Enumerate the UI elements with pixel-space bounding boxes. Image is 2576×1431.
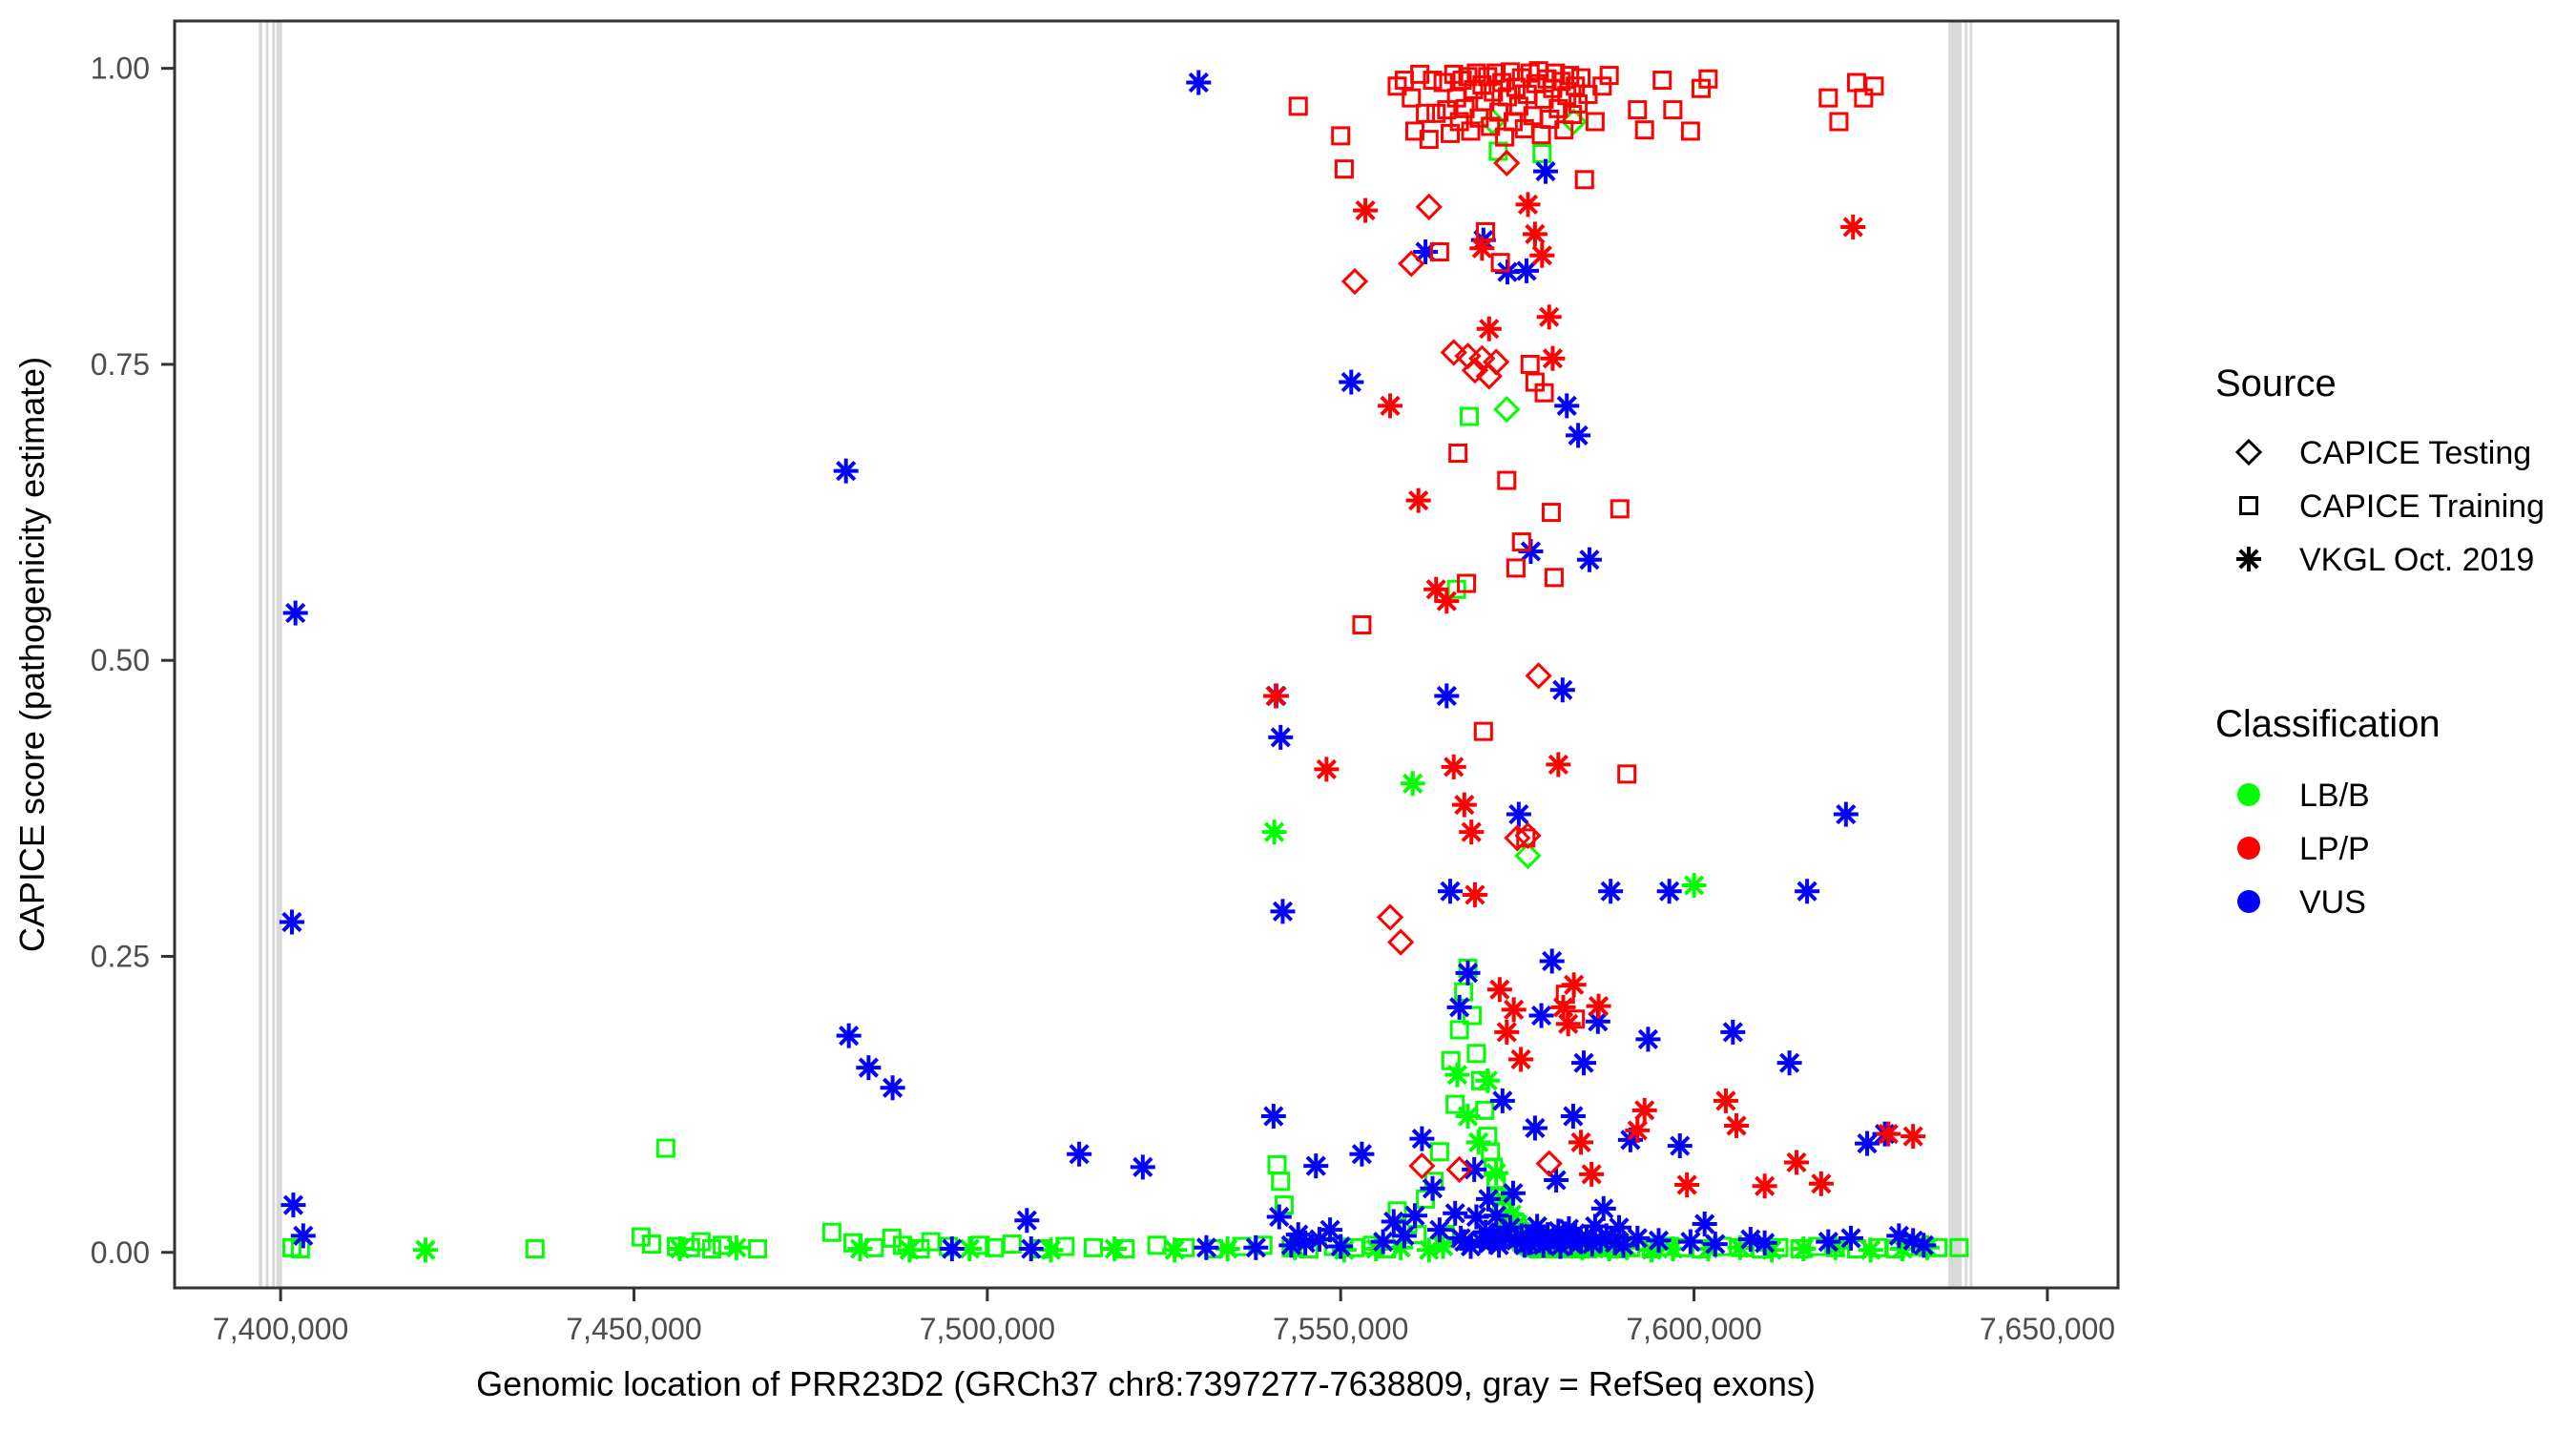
scatter-point-asterisk — [1668, 1133, 1693, 1158]
y-tick-label: 1.00 — [91, 52, 150, 86]
scatter-point-asterisk — [1607, 1215, 1631, 1240]
scatter-point-asterisk — [1314, 757, 1339, 781]
scatter-point-asterisk — [1901, 1124, 1925, 1149]
scatter-point-asterisk — [283, 601, 308, 626]
scatter-point-asterisk — [1839, 1226, 1863, 1251]
scatter-point-asterisk — [1194, 1235, 1218, 1260]
scatter-point-asterisk — [1577, 548, 1602, 572]
x-tick-label: 7,650,000 — [1980, 1312, 2115, 1346]
scatter-point-asterisk — [1402, 1203, 1427, 1228]
scatter-point-asterisk — [1463, 882, 1487, 907]
scatter-point-asterisk — [1270, 899, 1295, 923]
scatter-point-asterisk — [1703, 1232, 1728, 1256]
scatter-point-asterisk — [1540, 346, 1565, 371]
scatter-point-asterisk — [1019, 1236, 1044, 1261]
scatter-point-asterisk — [1579, 1162, 1604, 1187]
exon-band — [277, 21, 282, 1288]
scatter-point-asterisk — [1632, 1098, 1657, 1123]
scatter-point-asterisk — [413, 1237, 438, 1262]
scatter-point-asterisk — [1571, 1050, 1596, 1075]
y-tick-label: 0.25 — [91, 939, 150, 973]
x-tick-label: 7,600,000 — [1626, 1312, 1761, 1346]
scatter-point-asterisk — [1724, 1113, 1749, 1138]
scatter-point-asterisk — [1809, 1172, 1834, 1196]
scatter-point-asterisk — [1561, 1104, 1586, 1129]
scatter-point-asterisk — [1328, 1234, 1353, 1259]
scatter-point-asterisk — [1447, 995, 1472, 1020]
x-tick-label: 7,400,000 — [213, 1312, 348, 1346]
scatter-point-asterisk — [1392, 1223, 1417, 1248]
scatter-point-asterisk — [837, 1024, 862, 1048]
scatter-point-asterisk — [1444, 1063, 1469, 1088]
y-tick-label: 0.00 — [91, 1235, 150, 1270]
scatter-point-asterisk — [280, 909, 304, 934]
exon-band — [1969, 21, 1972, 1288]
scatter-point-asterisk — [1508, 1047, 1533, 1071]
scatter-point-asterisk — [1816, 1230, 1840, 1255]
scatter-point-asterisk — [1378, 393, 1402, 418]
scatter-point-asterisk — [1371, 1230, 1396, 1255]
scatter-point-asterisk — [1420, 1176, 1444, 1201]
scatter-point-asterisk — [1720, 1020, 1745, 1045]
legend-color-dot — [2237, 890, 2260, 913]
scatter-point-asterisk — [1587, 994, 1611, 1019]
legend-item-label: CAPICE Training — [2299, 488, 2545, 525]
scatter-point-asterisk — [1566, 423, 1590, 447]
x-tick-label: 7,500,000 — [920, 1312, 1055, 1346]
scatter-point-asterisk — [1494, 1020, 1519, 1045]
scatter-point-asterisk — [1540, 948, 1565, 973]
x-tick-label: 7,450,000 — [566, 1312, 701, 1346]
scatter-point-asterisk — [1795, 879, 1819, 903]
scatter-point-asterisk — [1682, 873, 1707, 898]
scatter-point-asterisk — [1243, 1235, 1268, 1260]
legend-source-title: Source — [2215, 363, 2337, 404]
scatter-point-asterisk — [1442, 755, 1466, 779]
legend-item-label: VUS — [2299, 884, 2366, 921]
scatter-point-asterisk — [1834, 802, 1859, 827]
plot-panel — [175, 21, 2118, 1288]
scatter-point-asterisk — [1550, 677, 1575, 702]
legend-item-label: VKGL Oct. 2019 — [2299, 542, 2534, 578]
exon-band — [266, 21, 269, 1288]
x-tick-label: 7,550,000 — [1273, 1312, 1408, 1346]
scatter-point-asterisk — [1459, 819, 1484, 844]
exon-band — [1964, 21, 1967, 1288]
scatter-point-asterisk — [1501, 1181, 1526, 1206]
scatter-point-asterisk — [1876, 1122, 1901, 1147]
exon-band — [259, 21, 262, 1288]
scatter-point-asterisk — [1406, 488, 1431, 513]
scatter-point-asterisk — [1349, 1142, 1374, 1167]
scatter-point-asterisk — [1551, 995, 1576, 1020]
scatter-point-asterisk — [1318, 1217, 1342, 1242]
scatter-point-asterisk — [1714, 1089, 1738, 1113]
scatter-point-asterisk — [1456, 961, 1481, 985]
scatter-point-asterisk — [1353, 198, 1378, 223]
scatter-point-asterisk — [1438, 879, 1463, 903]
scatter-point-asterisk — [1591, 1196, 1616, 1221]
scatter-point-asterisk — [724, 1235, 749, 1260]
scatter-point-asterisk — [1523, 221, 1548, 246]
scatter-point-asterisk — [1678, 1230, 1703, 1255]
scatter-point-asterisk — [1401, 771, 1425, 796]
scatter-point-asterisk — [2236, 547, 2261, 571]
legend-classification-items: LB/BLP/PVUS — [2237, 778, 2370, 921]
scatter-point-asterisk — [1262, 819, 1287, 844]
legend-item-label: LB/B — [2299, 778, 2370, 814]
scatter-point-asterisk — [1546, 752, 1570, 777]
scatter-point-asterisk — [1409, 1127, 1434, 1151]
scatter-point-asterisk — [1014, 1208, 1039, 1233]
panel-background — [175, 21, 2118, 1288]
scatter-point-asterisk — [1131, 1154, 1155, 1179]
scatter-point-asterisk — [881, 1075, 905, 1100]
scatter-point-asterisk — [1381, 1209, 1406, 1234]
scatter-point-asterisk — [1462, 1157, 1486, 1182]
scatter-point-asterisk — [1477, 317, 1502, 342]
legend-color-dot — [2237, 837, 2260, 860]
scatter-point-asterisk — [1674, 1172, 1699, 1197]
scatter-point-asterisk — [1625, 1226, 1650, 1251]
scatter-point-asterisk — [1647, 1228, 1672, 1253]
legend-item-label: LP/P — [2299, 831, 2370, 867]
scatter-point-asterisk — [291, 1223, 316, 1248]
scatter-point-asterisk — [940, 1236, 965, 1261]
scatter-point-asterisk — [1490, 1089, 1515, 1113]
exon-band — [272, 21, 275, 1288]
y-tick-label: 0.50 — [91, 643, 150, 677]
scatter-point-asterisk — [1568, 1130, 1593, 1154]
scatter-point-asterisk — [1261, 1104, 1286, 1129]
y-tick-label: 0.75 — [91, 347, 150, 382]
scatter-point-asterisk — [1268, 725, 1293, 750]
scatter-point-asterisk — [1529, 1004, 1554, 1028]
scatter-point-asterisk — [1529, 243, 1554, 268]
scatter-point-asterisk — [280, 1192, 305, 1217]
scatter-point-asterisk — [1635, 1027, 1660, 1051]
scatter-point-asterisk — [1537, 304, 1562, 329]
scatter-point-asterisk — [1533, 159, 1558, 184]
scatter-point-asterisk — [1753, 1231, 1777, 1255]
scatter-point-asterisk — [1067, 1142, 1091, 1167]
scatter-point-asterisk — [1554, 393, 1579, 418]
scatter-point-asterisk — [1434, 683, 1459, 708]
scatter-point-asterisk — [1443, 1201, 1467, 1226]
scatter-point-asterisk — [1777, 1050, 1802, 1075]
scatter-point-asterisk — [1515, 192, 1540, 217]
scatter-point-asterisk — [1502, 997, 1527, 1022]
scatter-point-asterisk — [1186, 71, 1211, 95]
scatter-point-asterisk — [1657, 879, 1682, 903]
scatter-point-asterisk — [1840, 215, 1865, 239]
scatter-point-asterisk — [1753, 1173, 1777, 1198]
legend-item-label: CAPICE Testing — [2299, 435, 2531, 471]
scatter-point-asterisk — [1523, 1115, 1548, 1140]
scatter-point-asterisk — [1598, 879, 1623, 903]
scatter-point-asterisk — [1784, 1150, 1809, 1174]
scatter-point-asterisk — [1339, 370, 1363, 395]
scatter-point-asterisk — [1434, 589, 1459, 613]
scatter-point-asterisk — [1693, 1212, 1717, 1236]
scatter-point-asterisk — [1303, 1153, 1328, 1178]
exon-band — [1948, 21, 1962, 1288]
scatter-point-asterisk — [1267, 1205, 1292, 1230]
capice-scatter-figure: 0.000.250.500.751.00 CAPICE score (patho… — [0, 0, 2576, 1431]
scatter-point-asterisk — [1911, 1233, 1936, 1257]
y-axis-title: CAPICE score (pathogenicity estimate) — [12, 357, 52, 952]
scatter-point-asterisk — [1487, 977, 1512, 1002]
x-axis-title: Genomic location of PRR23D2 (GRCh37 chr8… — [476, 1364, 1816, 1403]
legend-color-dot — [2237, 783, 2260, 806]
legend-classification-title: Classification — [2215, 703, 2441, 745]
scatter-point-asterisk — [1263, 683, 1288, 708]
scatter-point-asterisk — [856, 1055, 881, 1080]
scatter-point-asterisk — [834, 459, 859, 484]
scatter-point-asterisk — [1452, 793, 1477, 818]
